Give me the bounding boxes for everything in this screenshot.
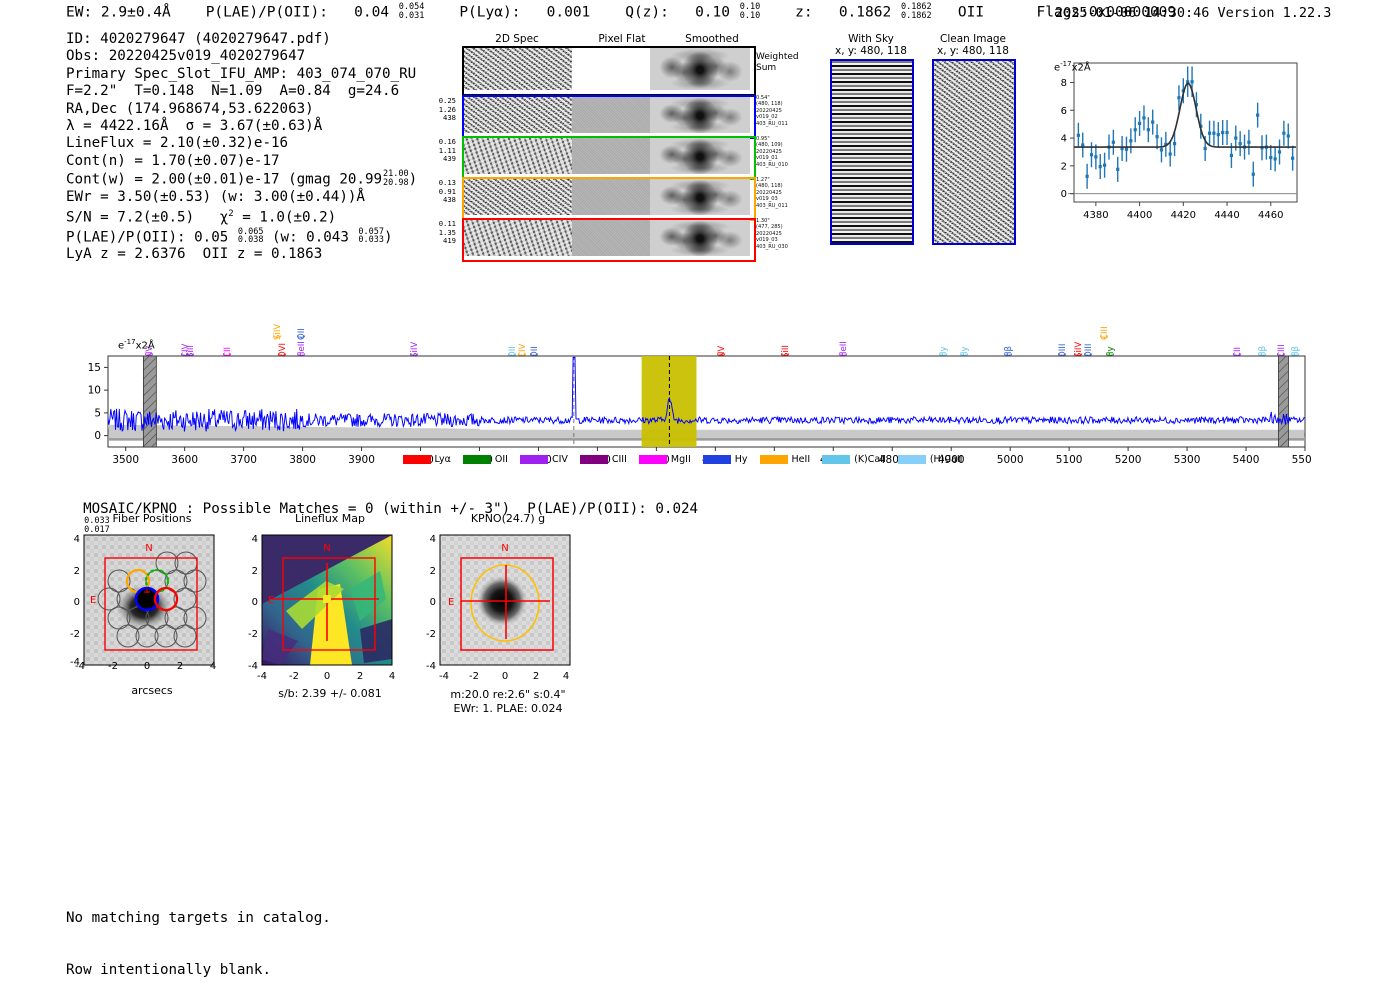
- header-z-label: z:: [795, 4, 812, 20]
- spec2d-weighted-sum-row: [462, 46, 756, 96]
- fiber-positions-xlabel: arcsecs: [62, 684, 242, 697]
- svg-text:15: 15: [88, 362, 101, 374]
- source-info-block: ID: 4020279647 (4020279647.pdf) Obs: 202…: [66, 31, 417, 264]
- svg-text:0: 0: [1061, 189, 1067, 200]
- svg-text:-2: -2: [70, 629, 80, 640]
- svg-text:-2: -2: [289, 671, 299, 682]
- legend-label: OII: [495, 454, 508, 465]
- spec2d-col-header-2dspec: 2D Spec: [462, 33, 572, 45]
- header-plae-bounds: 0.0540.031: [399, 3, 425, 20]
- legend-swatch: [463, 455, 491, 464]
- spec2d-panel-group: 2D Spec Pixel Flat Smoothed Weighted Sum…: [462, 33, 807, 258]
- spec2d-row3-left-stats: 0.130.91438: [422, 179, 456, 205]
- cutout-with-sky-image: [830, 59, 914, 245]
- spec2d-fiber-row-2: [462, 136, 756, 180]
- emission-line-label-CIII: CIII: [1100, 326, 1110, 340]
- timestamp-version: 2025-01-06 14:30:46 Version 1.22.3: [1055, 5, 1331, 21]
- spec2d-weighted-sum-label: Weighted Sum: [756, 52, 799, 74]
- spec2d-row1-right-meta: 0.54"(480, 118)20220425v019_02403_RU_011: [756, 95, 816, 127]
- svg-text:2: 2: [177, 661, 183, 672]
- svg-text:4: 4: [430, 534, 436, 545]
- spec2d-row1-left-stats: 0.251.26438: [422, 97, 456, 123]
- svg-text:5: 5: [94, 407, 101, 419]
- svg-text:E: E: [448, 597, 454, 608]
- kpno-svg: N E -4-2 02 4 42 0-2 -4: [418, 529, 598, 714]
- kpno-title: KPNO(24.7) g: [418, 512, 598, 525]
- svg-text:0: 0: [144, 661, 150, 672]
- svg-text:4: 4: [74, 534, 80, 545]
- info-primary-spec: Primary Spec_Slot_IFU_AMP: 403_074_070_R…: [66, 66, 417, 83]
- svg-text:-2: -2: [248, 629, 258, 640]
- svg-text:4380: 4380: [1083, 210, 1108, 221]
- svg-text:-4: -4: [70, 657, 80, 668]
- svg-text:8: 8: [1061, 78, 1067, 89]
- lineflux-map-title: Lineflux Map: [240, 512, 420, 525]
- header-z-bounds: 0.18620.1862: [901, 3, 932, 20]
- legend-swatch: [703, 455, 731, 464]
- header-plya-value: 0.001: [547, 4, 591, 20]
- spec2d-row3-right-meta: 1.27"(480, 118)20220425v019_03403_RU_011: [756, 177, 816, 209]
- legend-item-CIV: CIV: [520, 454, 568, 465]
- spec2d-col-header-smoothed: Smoothed: [667, 33, 757, 45]
- full-spectrum-flux-unit: e-17x2Å: [118, 338, 155, 351]
- footer-note: No matching targets in catalog. Row inte…: [66, 875, 331, 997]
- cutout-clean-image: [932, 59, 1016, 245]
- svg-text:-4: -4: [248, 661, 258, 672]
- kpno-panel: KPNO(24.7) g N E -4-2 02 4 42 0-2: [418, 512, 598, 722]
- lineflux-map-panel: Lineflux Map N E -4-2: [240, 512, 420, 712]
- header-z-species: OII: [958, 4, 984, 20]
- svg-text:-2: -2: [426, 629, 436, 640]
- svg-text:0: 0: [94, 430, 101, 442]
- svg-text:4420: 4420: [1171, 210, 1196, 221]
- legend-swatch: [760, 455, 788, 464]
- legend-label: HeII: [792, 454, 811, 465]
- emission-line-label-SiIV: SiIV: [273, 324, 283, 340]
- svg-text:2: 2: [533, 671, 539, 682]
- spec2d-fiber-row-1: [462, 95, 756, 139]
- svg-text:4440: 4440: [1214, 210, 1239, 221]
- kpno-caption-line2: EWr: 1. PLAE: 0.024: [418, 702, 598, 715]
- info-id: ID: 4020279647 (4020279647.pdf): [66, 31, 417, 48]
- fiber-positions-title: Fiber Positions: [62, 512, 242, 525]
- info-radec: RA,Dec (174.968674,53.622063): [66, 101, 417, 118]
- header-summary-line: EW: 2.9±0.4Å P(LAE)/P(OII): 0.04 0.0540.…: [66, 3, 1176, 20]
- legend-label: (H)CaII: [930, 454, 963, 465]
- info-plae: P(LAE)/P(OII): 0.05 0.0650.038 (w: 0.043…: [66, 228, 417, 247]
- line-profile-svg: 0246843804400442044404460: [1040, 55, 1305, 230]
- full-spectrum-panel: {NV{SiII{CIV{CII{OVI{SiIV{OII{HeII{SiIV{…: [66, 276, 1311, 466]
- legend-swatch: [822, 455, 850, 464]
- cutout-clean-image: Clean Image x, y: 480, 118: [928, 33, 1018, 57]
- svg-text:-4: -4: [257, 671, 267, 682]
- svg-text:-2: -2: [108, 661, 118, 672]
- footer-line-2: Row intentionally blank.: [66, 962, 331, 979]
- legend-swatch: [898, 455, 926, 464]
- legend-swatch: [580, 455, 608, 464]
- svg-text:-4: -4: [426, 661, 436, 672]
- legend-label: (K)CaII: [854, 454, 886, 465]
- fiber-positions-panel: Fiber Positions: [62, 512, 242, 712]
- info-sn-chi2: S/N = 7.2(±0.5) χ2 = 1.0(±0.2): [66, 206, 417, 227]
- svg-text:4: 4: [389, 671, 395, 682]
- legend-swatch: [639, 455, 667, 464]
- info-redshifts: LyA z = 2.6376 OII z = 0.1863: [66, 246, 417, 263]
- svg-text:2: 2: [430, 566, 436, 577]
- legend-swatch: [520, 455, 548, 464]
- header-z-value: 0.1862: [839, 4, 891, 20]
- legend-label: CIV: [552, 454, 568, 465]
- spec2d-row2-right-meta: 0.95"(480, 109)20220425v019_01403_RU_010: [756, 136, 816, 168]
- spec2d-row2-left-stats: 0.161.11439: [422, 138, 456, 164]
- header-qz-value: 0.10: [695, 4, 730, 20]
- svg-text:2: 2: [1061, 161, 1067, 172]
- info-obs: Obs: 20220425v019_4020279647: [66, 48, 417, 65]
- spec2d-row4-right-meta: 1.30"(477, 285)20220425v019_03403_RU_030: [756, 218, 816, 250]
- line-profile-flux-unit: e-17x2Å: [1054, 60, 1091, 73]
- spec2d-fiber-row-3: [462, 177, 756, 221]
- legend-item-MgII: MgII: [639, 454, 691, 465]
- svg-text:4: 4: [563, 671, 569, 682]
- svg-text:0: 0: [430, 597, 436, 608]
- cutout-clean-title: Clean Image: [928, 33, 1018, 45]
- header-plya-label: P(Lyα):: [459, 4, 520, 20]
- info-cont-n: Cont(n) = 1.70(±0.07)e-17: [66, 153, 417, 170]
- svg-text:-2: -2: [469, 671, 479, 682]
- emission-line-label-layer: {NV{SiII{CIV{CII{OVI{SiIV{OII{HeII{SiIV{…: [66, 276, 1311, 354]
- cutout-with-sky: With Sky x, y: 480, 118: [826, 33, 916, 57]
- legend-item-CIII: CIII: [580, 454, 627, 465]
- full-spectrum-legend: LyαOIICIVCIIIMgIIHyHeII(K)CaII(H)CaII: [66, 447, 1311, 466]
- svg-text:2: 2: [252, 566, 258, 577]
- legend-item-Hy: Hy: [703, 454, 748, 465]
- svg-text:0: 0: [324, 671, 330, 682]
- legend-label: Hy: [735, 454, 748, 465]
- header-qz-bounds: 0.100.10: [740, 3, 760, 20]
- spec2d-col-header-pixelflat: Pixel Flat: [577, 33, 667, 45]
- info-lineflux: LineFlux = 2.10(±0.32)e-16: [66, 135, 417, 152]
- svg-text:N: N: [501, 543, 508, 554]
- legend-label: CIII: [612, 454, 627, 465]
- legend-swatch: [403, 455, 431, 464]
- svg-text:2: 2: [74, 566, 80, 577]
- svg-text:E: E: [268, 595, 274, 606]
- header-qz-label: Q(z):: [625, 4, 669, 20]
- header-ew: EW: 2.9±0.4Å: [66, 4, 171, 20]
- spec2d-row4-left-stats: 0.111.35419: [422, 220, 456, 246]
- header-plae-label: P(LAE)/P(OII):: [206, 4, 328, 20]
- svg-text:-4: -4: [439, 671, 449, 682]
- svg-text:0: 0: [502, 671, 508, 682]
- cutout-with-sky-subtitle: x, y: 480, 118: [826, 45, 916, 57]
- cutout-with-sky-title: With Sky: [826, 33, 916, 45]
- svg-text:4400: 4400: [1127, 210, 1152, 221]
- cutout-clean-subtitle: x, y: 480, 118: [928, 45, 1018, 57]
- svg-text:10: 10: [88, 385, 101, 397]
- info-cont-w: Cont(w) = 2.00(±0.01)e-17 (gmag 20.9921.…: [66, 170, 417, 189]
- info-wavelength-sigma: λ = 4422.16Å σ = 3.67(±0.63)Å: [66, 118, 417, 135]
- legend-item-HeII: HeII: [760, 454, 811, 465]
- info-ewr: EWr = 3.50(±0.53) (w: 3.00(±0.44))Å: [66, 189, 417, 206]
- svg-text:N: N: [323, 543, 330, 554]
- header-plae-value: 0.04: [354, 4, 389, 20]
- footer-line-1: No matching targets in catalog.: [66, 910, 331, 927]
- legend-item-(H)CaII: (H)CaII: [898, 454, 963, 465]
- svg-text:4460: 4460: [1258, 210, 1283, 221]
- lineflux-map-caption: s/b: 2.39 +/- 0.081: [240, 687, 420, 700]
- svg-text:6: 6: [1061, 106, 1067, 117]
- legend-item-OII: OII: [463, 454, 508, 465]
- svg-text:4: 4: [252, 534, 258, 545]
- legend-label: MgII: [671, 454, 691, 465]
- spec2d-fiber-row-4: [462, 218, 756, 262]
- emission-line-label-OII: OII: [297, 328, 307, 340]
- svg-text:0: 0: [74, 597, 80, 608]
- svg-text:E: E: [90, 595, 96, 606]
- line-profile-plot: 0246843804400442044404460 e-17x2Å: [1040, 55, 1305, 230]
- kpno-caption-line1: m:20.0 re:2.6" s:0.4": [418, 688, 598, 701]
- legend-label: Lyα: [435, 454, 451, 465]
- svg-text:0: 0: [252, 597, 258, 608]
- svg-text:2: 2: [357, 671, 363, 682]
- legend-item-Lyα: Lyα: [403, 454, 451, 465]
- svg-text:4: 4: [1061, 134, 1067, 145]
- legend-item-(K)CaII: (K)CaII: [822, 454, 886, 465]
- info-seeing-params: F=2.2" T=0.148 N=1.09 A=0.84 g=24.6: [66, 83, 417, 100]
- svg-text:4: 4: [210, 661, 216, 672]
- svg-text:N: N: [145, 543, 152, 554]
